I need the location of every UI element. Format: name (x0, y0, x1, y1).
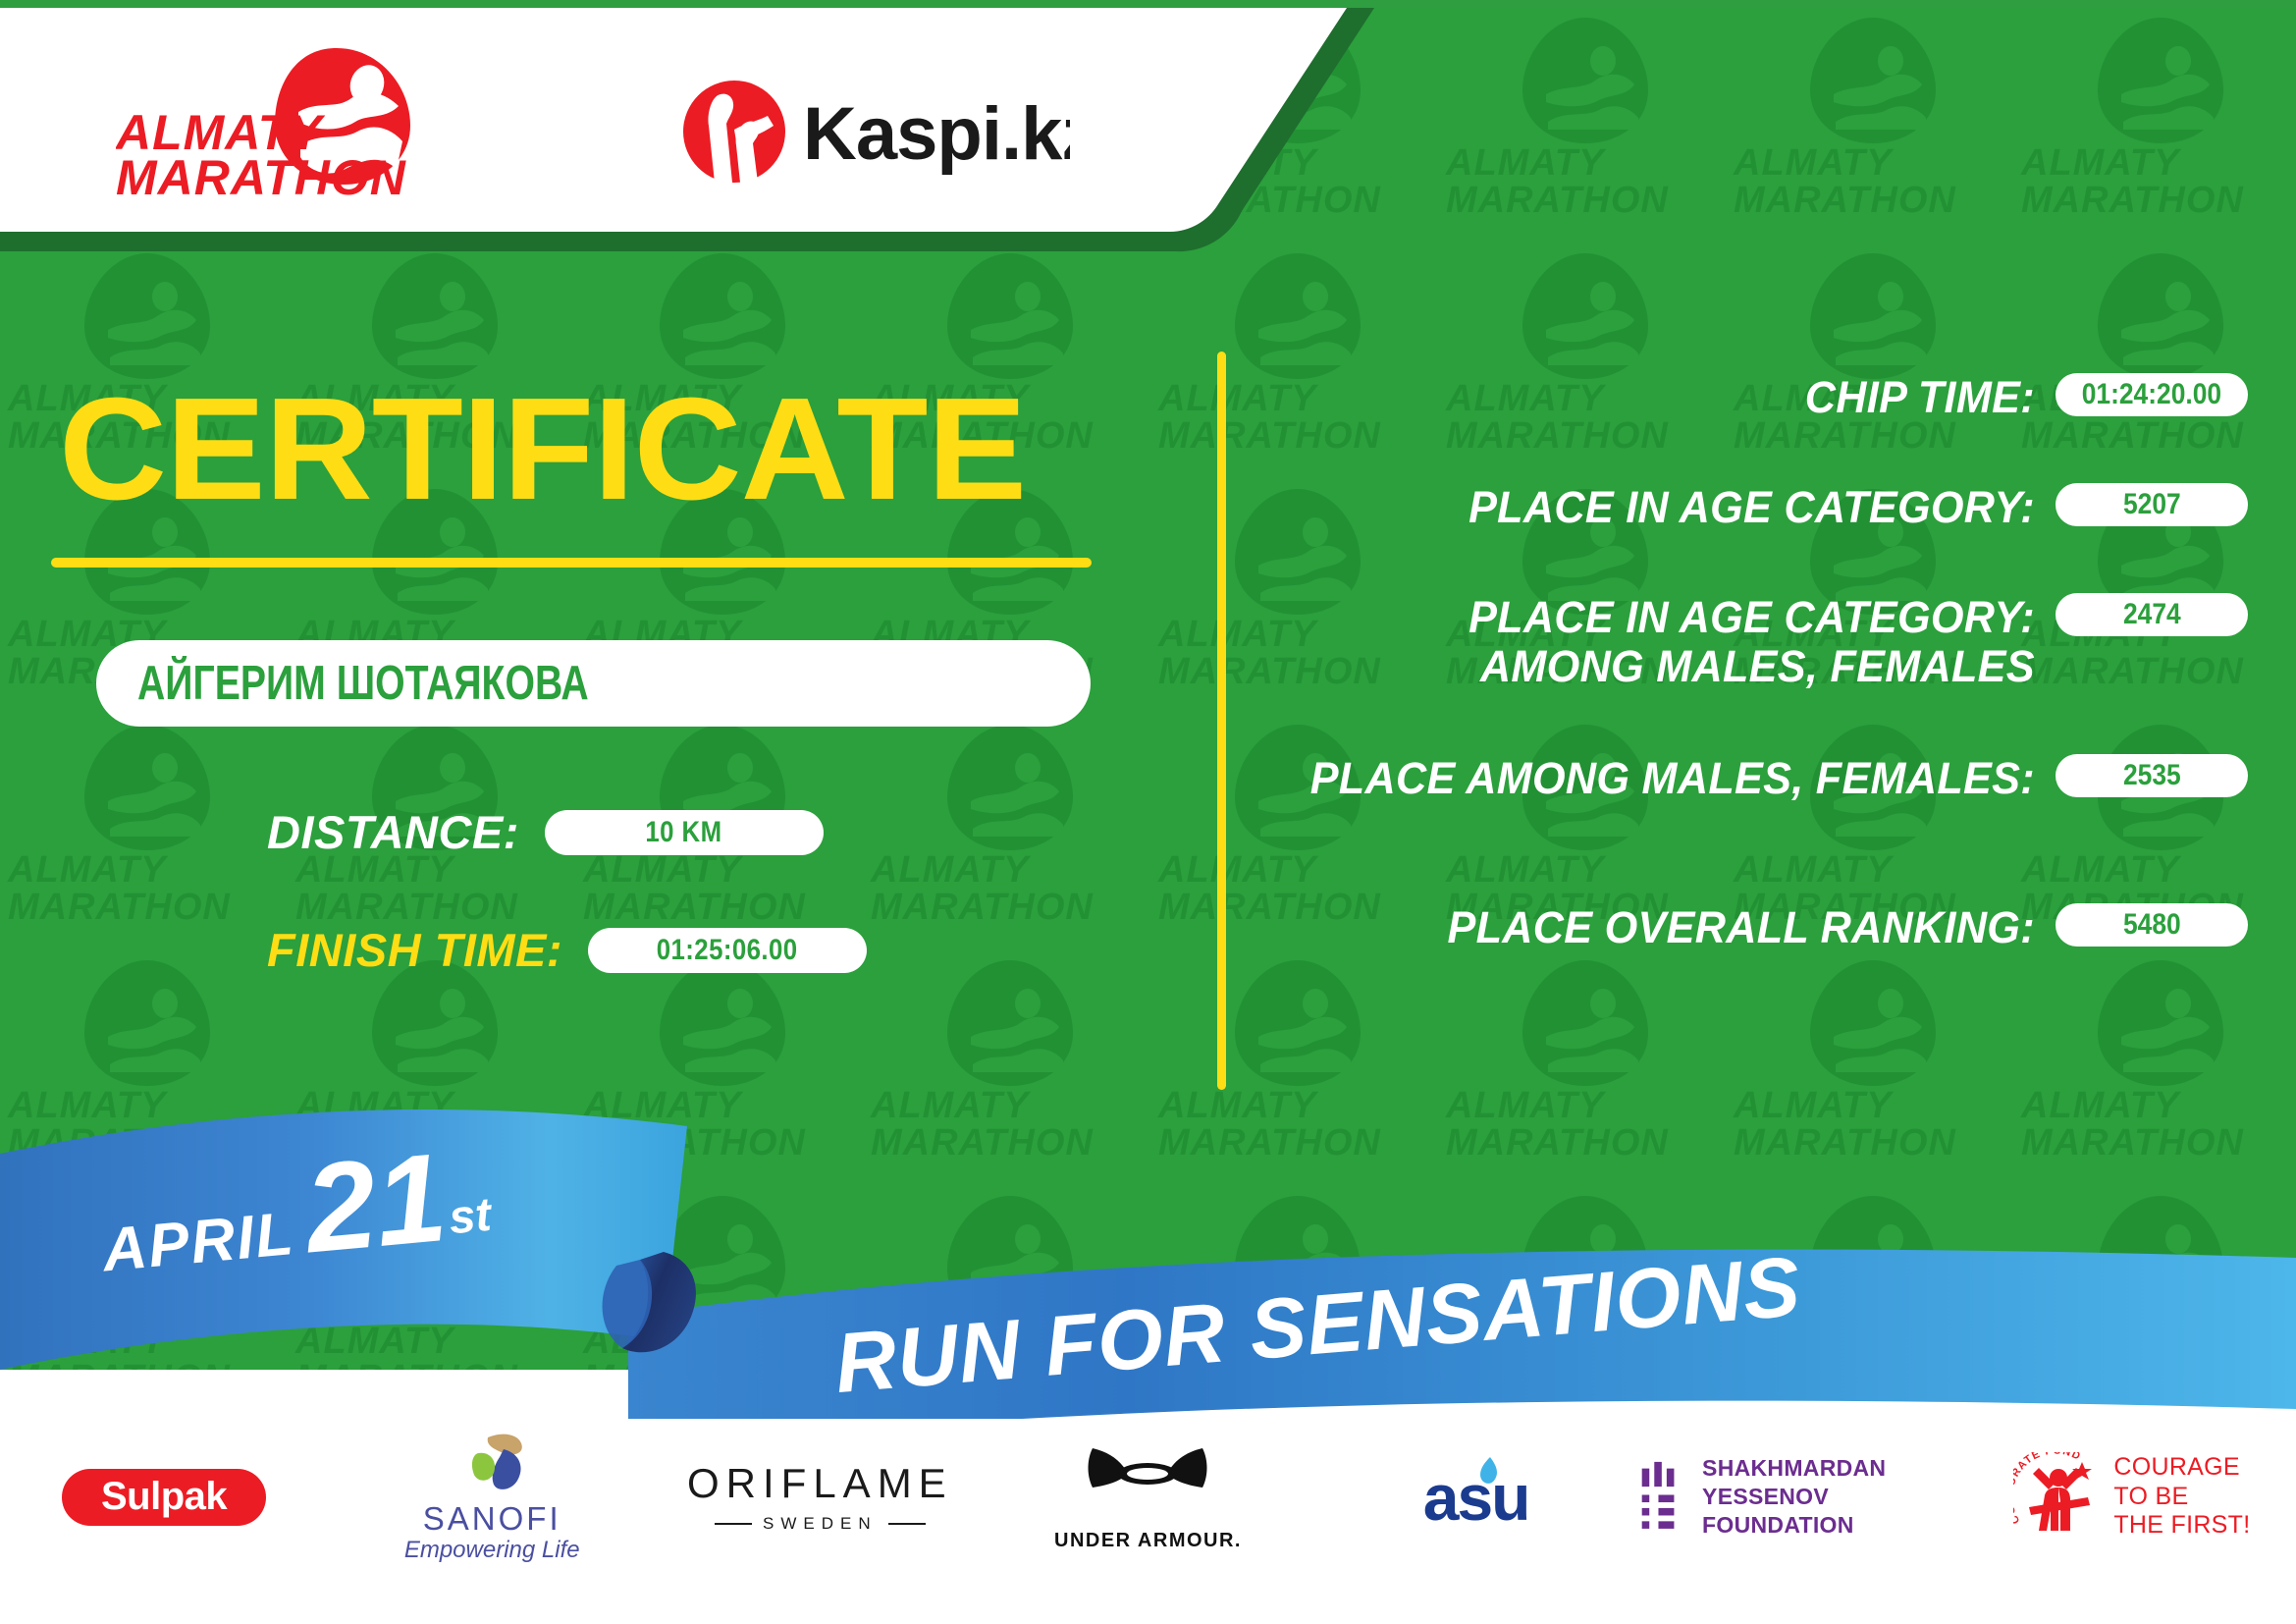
stat-row-place-overall: PLACE OVERALL RANKING: 5480 (1266, 903, 2248, 952)
courage-label-line1: COURAGE (2113, 1453, 2250, 1483)
place-age-category-label: PLACE IN AGE CATEGORY: (1298, 483, 2056, 532)
yessenov-label-line1: SHAKHMARDAN YESSENOV (1702, 1454, 1968, 1511)
title-underline (51, 558, 1092, 568)
yessenov-mark-icon (1640, 1455, 1684, 1540)
distance-value-field: 10 KM (545, 810, 824, 855)
place-among-gender-value: 2535 (2123, 759, 2181, 792)
sponsor-oriflame: ORIFLAME SWEDEN (656, 1424, 984, 1571)
distance-value: 10 KM (646, 816, 722, 849)
courage-label-line2: TO BE (2113, 1483, 2250, 1512)
stat-row-place-among-gender: PLACE AMONG MALES, FEMALES: 2535 (1266, 754, 2248, 803)
stat-row-chip-time: CHIP TIME: 01:24:20.00 (1266, 373, 2248, 422)
stat-row-place-age-category: PLACE IN AGE CATEGORY: 5207 (1266, 483, 2248, 532)
chip-time-value-field: 01:24:20.00 (2056, 373, 2248, 416)
place-age-category-gender-label: PLACE IN AGE CATEGORY: AMONG MALES, FEMA… (1298, 593, 2056, 692)
sponsor-under-armour: UNDER ARMOUR. (984, 1424, 1311, 1571)
sponsor-courage-to-be-first: CORPORATE FUND COURAGE TO BE THE FIRST! (1968, 1424, 2296, 1571)
finish-time-value-field: 01:25:06.00 (588, 928, 867, 973)
under-armour-logo: UNDER ARMOUR. (1054, 1442, 1242, 1552)
distance-label: DISTANCE: (267, 805, 519, 859)
asu-droplet-icon (1476, 1455, 1502, 1487)
sponsor-asu: asu (1312, 1424, 1640, 1571)
finish-time-row: FINISH TIME: 01:25:06.00 (267, 923, 867, 977)
sponsor-sulpak: Sulpak (0, 1424, 328, 1571)
top-accent-strip (0, 0, 2296, 8)
page-title: CERTIFICATE (59, 377, 1171, 522)
chip-time-label: CHIP TIME: (1298, 373, 2056, 422)
courage-logo: CORPORATE FUND COURAGE TO BE THE FIRST! (2013, 1452, 2250, 1543)
sulpak-logo: Sulpak (62, 1469, 266, 1526)
sponsor-sanofi: SANOFI Empowering Life (328, 1424, 656, 1571)
oriflame-rule-right (888, 1523, 926, 1525)
sanofi-label: SANOFI (404, 1502, 580, 1535)
kaspi-logo: Kaspi.kz (677, 61, 1070, 198)
event-day-suffix: st (447, 1188, 493, 1244)
sanofi-tagline: Empowering Life (404, 1539, 580, 1562)
sanofi-mark-icon (445, 1432, 539, 1494)
chip-time-value: 01:24:20.00 (2082, 378, 2221, 411)
oriflame-label: ORIFLAME (687, 1460, 953, 1507)
sponsor-yessenov-foundation: SHAKHMARDAN YESSENOV FOUNDATION (1640, 1424, 1968, 1571)
place-age-category-gender-value-field: 2474 (2056, 593, 2248, 636)
place-overall-label: PLACE OVERALL RANKING: (1298, 903, 2056, 952)
sulpak-label: Sulpak (101, 1475, 227, 1519)
place-overall-value: 5480 (2123, 908, 2181, 942)
distance-row: DISTANCE: 10 KM (267, 805, 824, 859)
oriflame-logo: ORIFLAME SWEDEN (687, 1460, 953, 1534)
kaspi-wordmark: Kaspi.kz (803, 92, 1070, 176)
under-armour-label: UNDER ARMOUR. (1054, 1530, 1242, 1552)
certificate-page: ALMATY MARATHON ALMATY (0, 0, 2296, 1624)
vertical-divider (1217, 352, 1226, 1090)
under-armour-mark-icon (1085, 1442, 1210, 1519)
yessenov-label-line2: FOUNDATION (1702, 1511, 1968, 1540)
event-month: APRIL (100, 1200, 297, 1284)
courage-label-line3: THE FIRST! (2113, 1511, 2250, 1541)
asu-logo: asu (1423, 1465, 1529, 1530)
courage-runner-icon: CORPORATE FUND (2013, 1452, 2104, 1543)
participant-name-value: АЙГЕРИМ ШОТАЯКОВА (137, 656, 589, 711)
sanofi-logo: SANOFI Empowering Life (404, 1432, 580, 1562)
participant-name-field: АЙГЕРИМ ШОТАЯКОВА (96, 640, 1091, 727)
oriflame-sublabel: SWEDEN (763, 1514, 878, 1534)
yessenov-logo: SHAKHMARDAN YESSENOV FOUNDATION (1640, 1454, 1968, 1539)
place-overall-value-field: 5480 (2056, 903, 2248, 947)
place-among-gender-value-field: 2535 (2056, 754, 2248, 797)
finish-time-label: FINISH TIME: (267, 923, 562, 977)
svg-text:MARATHON: MARATHON (116, 150, 406, 198)
oriflame-rule-left (715, 1523, 752, 1525)
place-age-category-value-field: 5207 (2056, 483, 2248, 526)
place-age-category-value: 5207 (2123, 488, 2181, 521)
place-among-gender-label: PLACE AMONG MALES, FEMALES: (1298, 754, 2056, 803)
event-day: 21 (299, 1127, 452, 1279)
two-people-icon (683, 81, 785, 183)
finish-time-value: 01:25:06.00 (657, 934, 798, 967)
stat-row-place-age-category-gender: PLACE IN AGE CATEGORY: AMONG MALES, FEMA… (1266, 593, 2248, 692)
place-age-category-gender-value: 2474 (2123, 598, 2181, 631)
almaty-marathon-logo: ALMATY MARATHON (116, 41, 440, 198)
